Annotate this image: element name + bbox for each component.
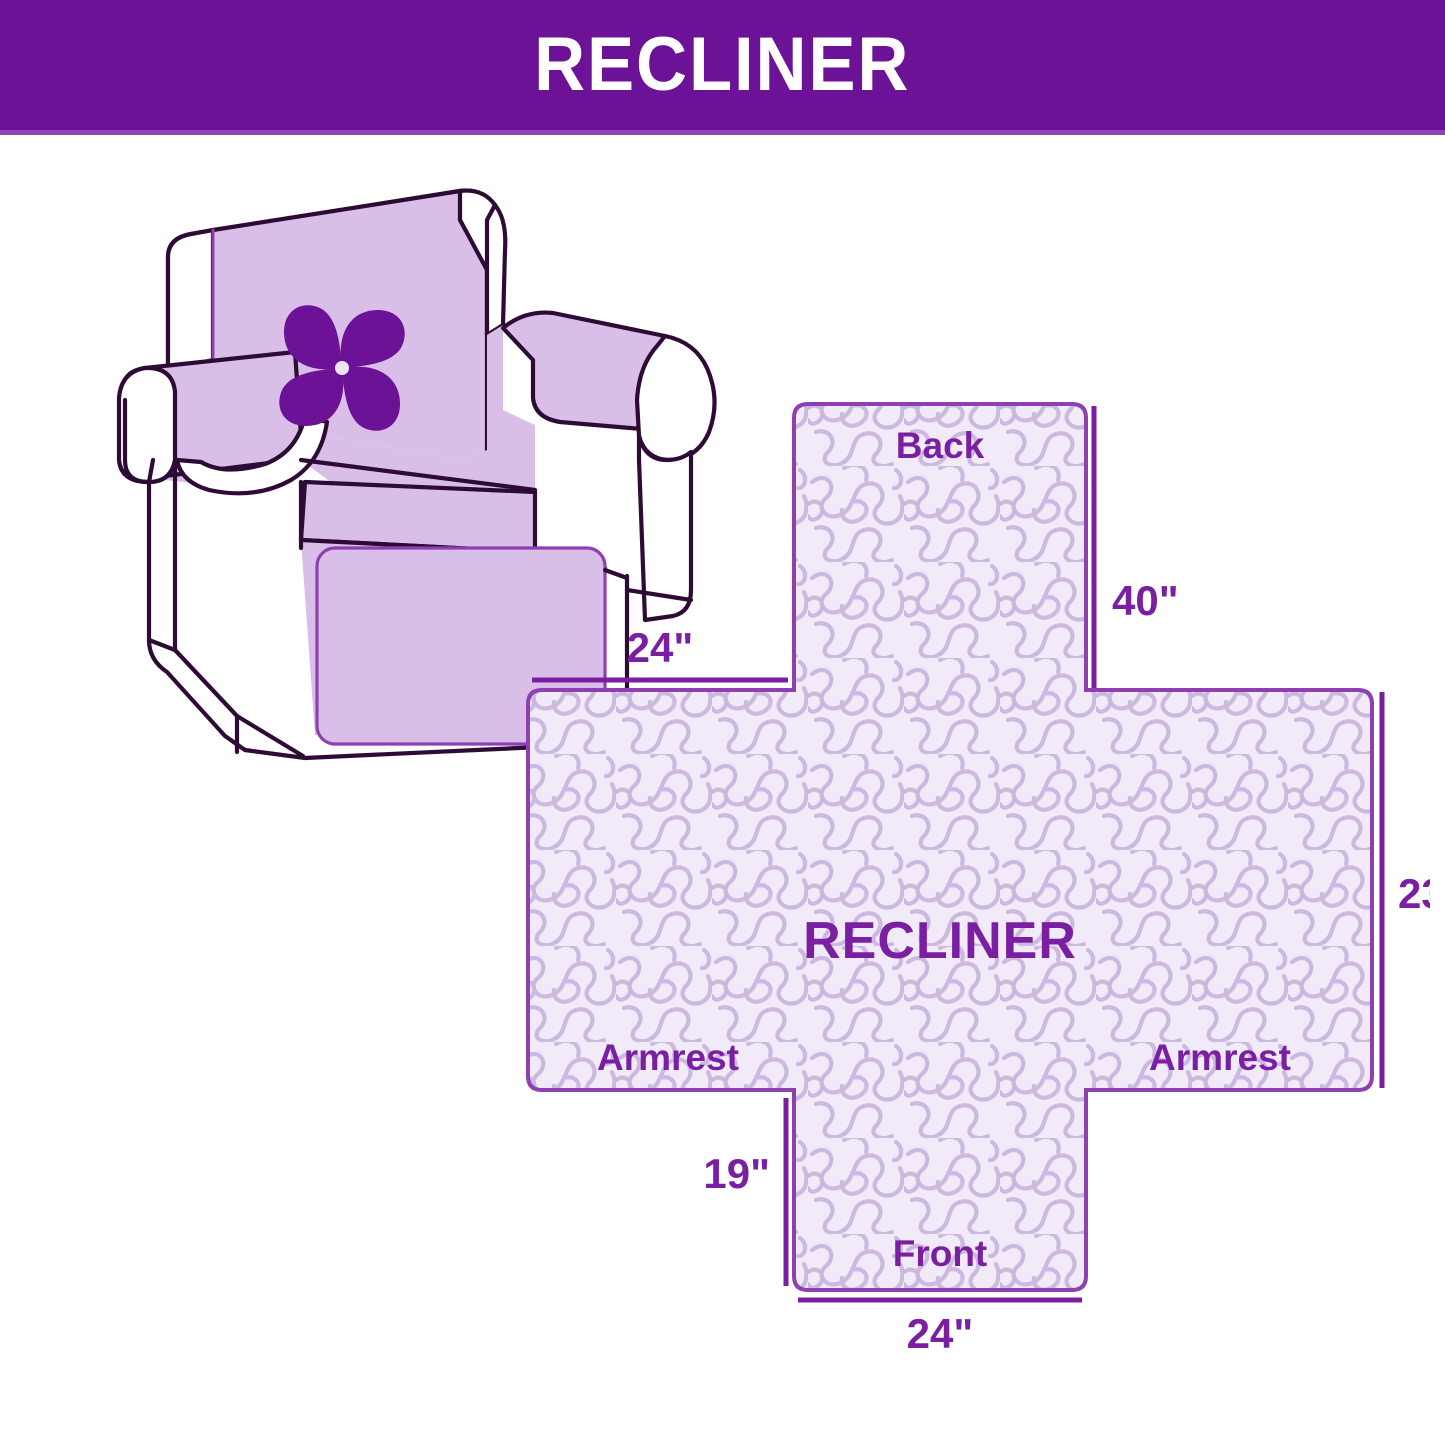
dim-label-armrest-height: 23" bbox=[1398, 870, 1430, 917]
dim-label-back-height: 40" bbox=[1112, 577, 1179, 624]
header-underline-divider bbox=[0, 130, 1445, 135]
panel-label-front: Front bbox=[893, 1233, 988, 1274]
panel-label-center: RECLINER bbox=[803, 912, 1077, 970]
dim-label-front-height: 19" bbox=[703, 1150, 770, 1197]
dim-label-front-width: 24" bbox=[907, 1310, 974, 1357]
page-title: RECLINER bbox=[534, 27, 910, 103]
cover-pattern-diagram: Back RECLINER Armrest Armrest Front 40" … bbox=[520, 370, 1430, 1400]
panel-label-armrest-left: Armrest bbox=[597, 1037, 739, 1078]
panel-label-back: Back bbox=[896, 425, 985, 466]
cross-cover-shape bbox=[528, 404, 1372, 1290]
dim-label-back-width: 24" bbox=[627, 624, 694, 671]
panel-label-armrest-right: Armrest bbox=[1149, 1037, 1291, 1078]
header-banner: RECLINER bbox=[0, 0, 1445, 130]
